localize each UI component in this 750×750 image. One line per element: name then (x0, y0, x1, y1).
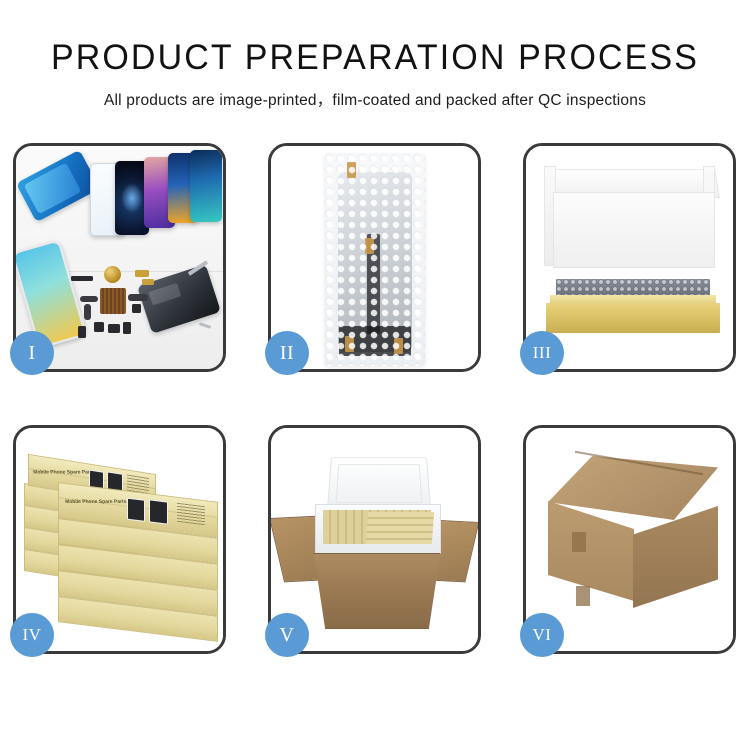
step-3-image (526, 146, 733, 369)
speaker-component-icon (104, 266, 121, 283)
logic-board-icon (100, 288, 126, 314)
box-phone-image-2a (127, 498, 145, 522)
phone-blue-back-icon (16, 150, 100, 223)
screw-icon (199, 322, 211, 329)
process-step-panel-5[interactable]: V (268, 425, 481, 654)
step-badge-1: I (10, 331, 54, 375)
process-step-panel-6[interactable]: VI (523, 425, 736, 654)
gold-connector-icon (135, 270, 149, 277)
process-step-panel-4[interactable]: Mobile Phone Spare Parts Mobile Phone Sp… (13, 425, 226, 654)
process-step-panel-1[interactable]: I (13, 143, 226, 372)
step-4-image: Mobile Phone Spare Parts Mobile Phone Sp… (16, 428, 223, 651)
flex-cable-icon (80, 296, 98, 302)
phone-teal-icon (190, 150, 222, 222)
box-spec-lines-2 (177, 503, 205, 526)
tape-tab-bottom-left-icon (345, 336, 354, 352)
flex-cable-3-icon (128, 294, 148, 301)
tape-tab-bottom-right-icon (394, 338, 403, 354)
mailer-tray-front-icon (546, 303, 720, 333)
box-label-2: Mobile Phone Spare Parts (65, 499, 127, 505)
foam-lid-icon (327, 457, 431, 511)
step-badge-4: IV (10, 613, 54, 657)
box-label-1: Mobile Phone Spare Parts (33, 470, 95, 476)
tape-tab-top-icon (347, 162, 356, 178)
step-1-image (16, 146, 223, 369)
page-title: PRODUCT PREPARATION PROCESS (11, 40, 739, 75)
step-badge-3: III (520, 331, 564, 375)
gold-bracket-icon (142, 279, 154, 285)
step-6-image (526, 428, 733, 651)
carton-front-face-icon (548, 501, 634, 601)
carton-tape-upper-icon (572, 532, 586, 552)
flex-cable-2-icon (84, 304, 91, 320)
box-stack-icon: Mobile Phone Spare Parts Mobile Phone Sp… (24, 448, 220, 638)
sim-tray-icon (123, 322, 131, 334)
step-badge-6: VI (520, 613, 564, 657)
process-step-panel-3[interactable]: III (523, 143, 736, 372)
step-5-image (271, 428, 478, 651)
page-header: PRODUCT PREPARATION PROCESS All products… (0, 0, 750, 110)
bubble-wrap-bag-icon (325, 154, 425, 366)
step-badge-5: V (265, 613, 309, 657)
button-flex-icon (78, 326, 86, 338)
camera-module-icon (94, 322, 104, 332)
process-step-panel-2[interactable]: II (268, 143, 481, 372)
carton-tape-lower-icon (576, 586, 590, 606)
page-subtitle: All products are image-printed，film-coat… (0, 88, 750, 110)
packed-boxes-right-icon (366, 512, 434, 544)
step-2-image (271, 146, 478, 369)
carton-side-face-icon (633, 506, 718, 608)
bar-component-icon (71, 276, 93, 281)
tape-tab-mid-icon (365, 238, 374, 254)
mailer-back-panel-icon (553, 192, 715, 268)
process-step-grid: I II III (13, 143, 737, 673)
box-phone-image-2b (149, 499, 168, 524)
phone-backplate-icon (137, 264, 221, 334)
chip-small-icon (132, 304, 141, 313)
taptic-engine-icon (108, 324, 120, 333)
carton-body-icon (305, 553, 449, 629)
step-badge-2: II (265, 331, 309, 375)
